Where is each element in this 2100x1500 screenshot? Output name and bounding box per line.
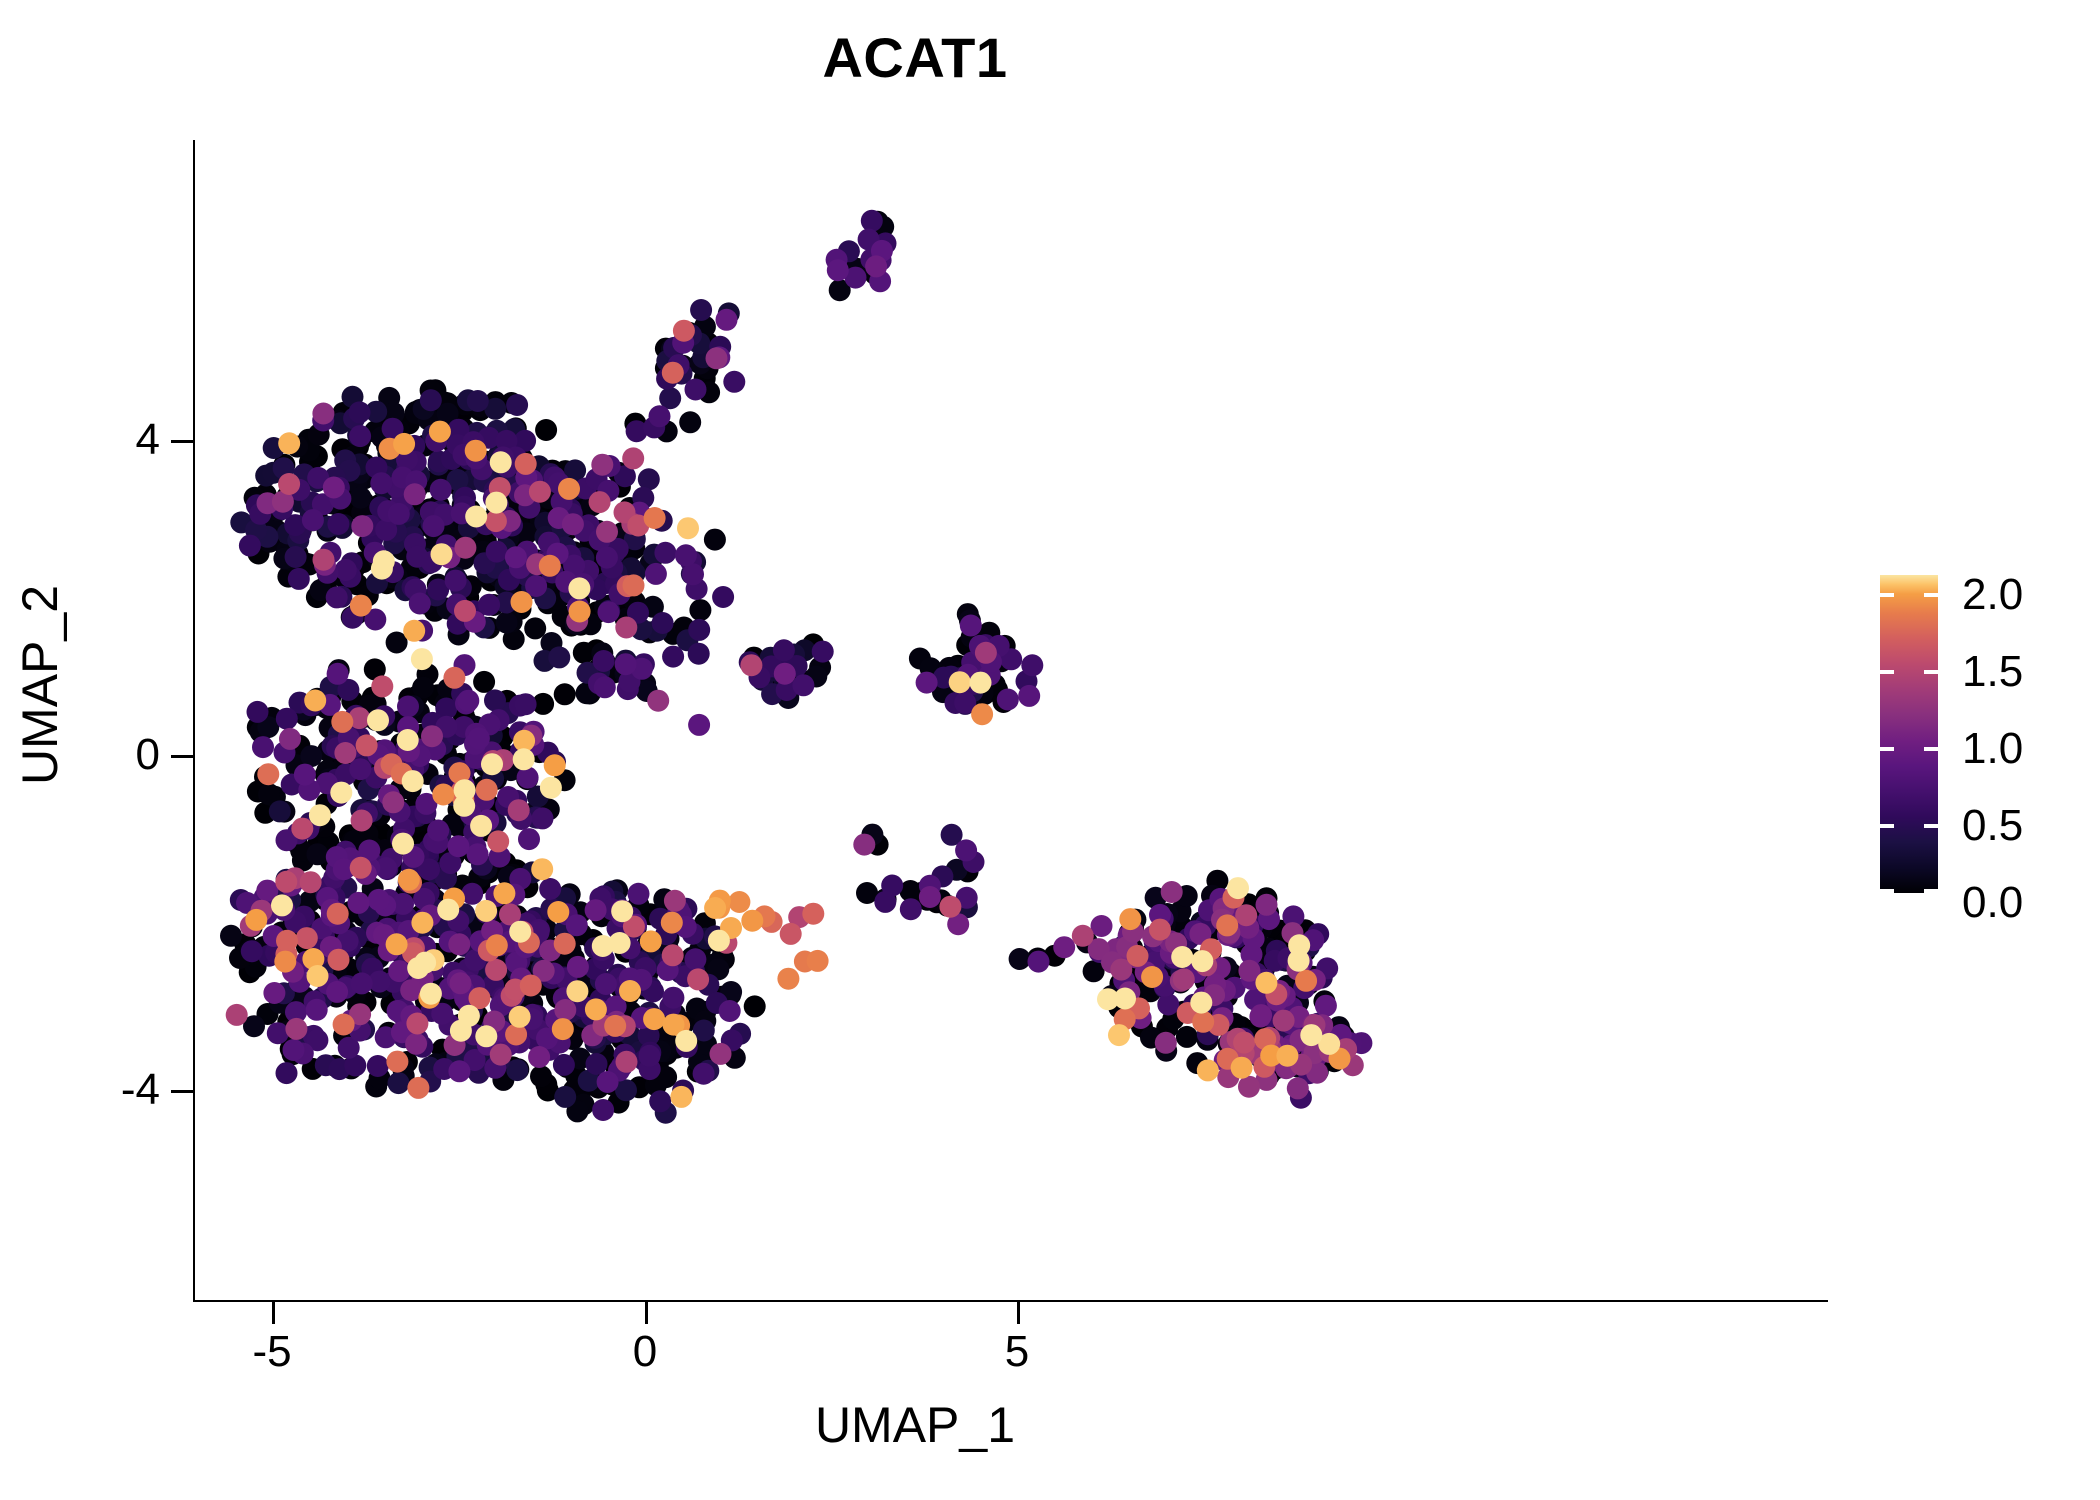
colorbar-tick-left-1 [1880,670,1894,674]
y-axis-label: UMAP_2 [15,335,65,1035]
colorbar-label-0.5: 0.5 [1962,804,2100,848]
x-tick-mark-1 [645,1302,648,1324]
colorbar-label-1.5: 1.5 [1962,650,2100,694]
colorbar-tick-left-0 [1880,593,1894,597]
x-axis-label: UMAP_1 [0,1400,1830,1450]
y-tick-mark-0 [171,440,193,443]
colorbar-tick-left-4 [1880,889,1894,893]
colorbar-tick-right-4 [1924,889,1938,893]
colorbar-gradient [1880,575,1938,893]
colorbar-label-0.0: 0.0 [1962,881,2100,925]
x-tick-label-2: 5 [957,1330,1077,1374]
y-tick-mark-1 [171,755,193,758]
colorbar-label-1.0: 1.0 [1962,727,2100,771]
y-tick-mark-2 [171,1090,193,1093]
x-tick-label-0: -5 [212,1330,332,1374]
x-tick-mark-2 [1017,1302,1020,1324]
colorbar-tick-left-3 [1880,824,1894,828]
plot-panel [195,140,1828,1300]
y-tick-label-2: -4 [40,1068,160,1112]
colorbar-tick-right-0 [1924,593,1938,597]
colorbar-tick-right-1 [1924,670,1938,674]
x-tick-label-1: 0 [585,1330,705,1374]
colorbar-tick-right-3 [1924,824,1938,828]
page-title: ACAT1 [0,30,1830,86]
figure-root: ACAT1 4 0 -4 -5 0 5 UMAP_1 UMAP_2 2.0 1 [0,0,2100,1500]
colorbar-tick-right-2 [1924,747,1938,751]
colorbar-label-2.0: 2.0 [1962,573,2100,617]
colorbar-legend: 2.0 1.5 1.0 0.5 0.0 [1880,575,2080,905]
x-tick-mark-0 [272,1302,275,1324]
colorbar-tick-left-2 [1880,747,1894,751]
